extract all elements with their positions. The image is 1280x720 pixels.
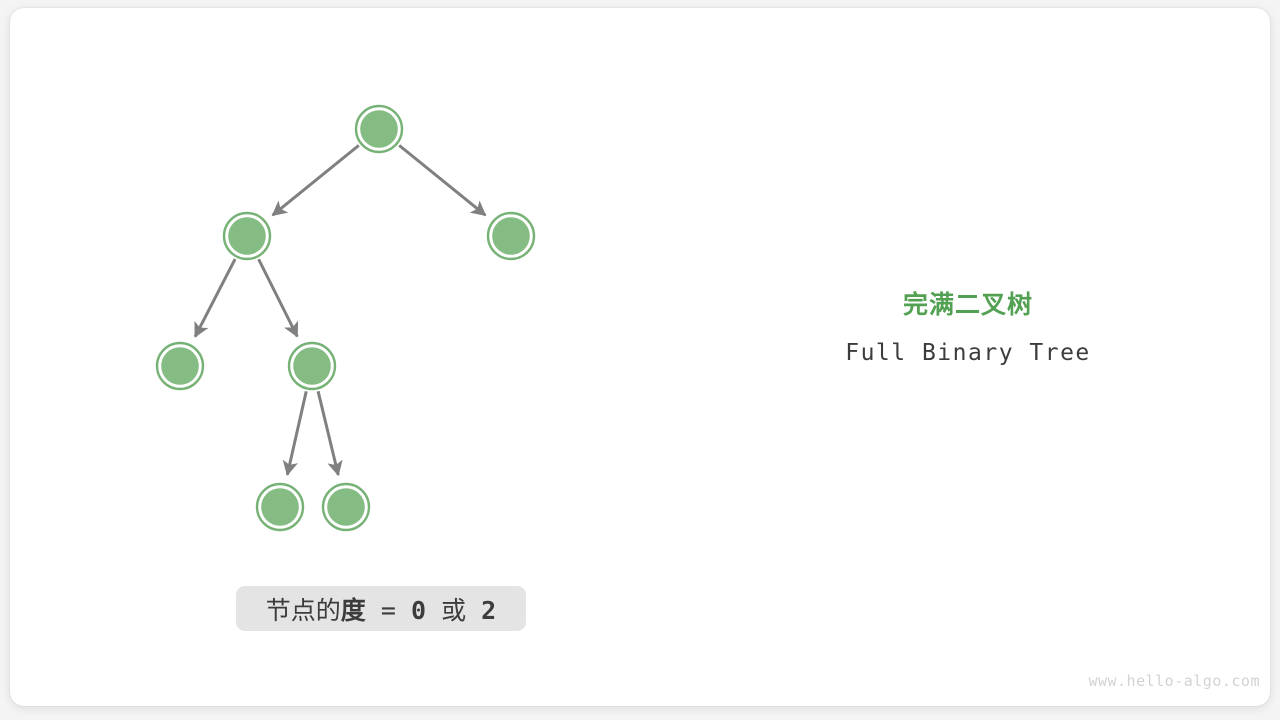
tree-edge [259, 259, 298, 336]
tree-node-fill [228, 217, 266, 255]
tree-node [157, 343, 203, 389]
tree-edge [273, 145, 359, 215]
tree-node-fill [261, 488, 299, 526]
title-english: Full Binary Tree [768, 339, 1168, 367]
tree-node [488, 213, 534, 259]
tree-edge [195, 259, 235, 337]
tree-node [323, 484, 369, 530]
tree-node [224, 213, 270, 259]
title-chinese: 完满二叉树 [768, 290, 1168, 320]
tree-node [289, 343, 335, 389]
tree-node [356, 106, 402, 152]
tree-edge [399, 145, 485, 215]
tree-node-fill [492, 217, 530, 255]
caption-segment: 2 [481, 596, 496, 625]
tree-edge [318, 391, 338, 475]
caption-segment: 节点的 [266, 596, 341, 625]
legend-block: 完满二叉树 Full Binary Tree [768, 290, 1168, 367]
caption-segment: 或 [426, 596, 481, 625]
tree-node-layer [157, 106, 534, 530]
caption-segment: 度 [341, 596, 366, 625]
tree-node-fill [161, 347, 199, 385]
diagram-canvas: 完满二叉树 Full Binary Tree 节点的度 = 0 或 2 www.… [0, 0, 1280, 720]
caption-text: 节点的度 = 0 或 2 [266, 591, 496, 627]
caption-segment: = [366, 596, 411, 625]
caption-segment: 0 [411, 596, 426, 625]
watermark: www.hello-algo.com [1070, 672, 1260, 690]
tree-edge [287, 391, 306, 474]
caption-badge: 节点的度 = 0 或 2 [236, 586, 526, 631]
tree-node-fill [327, 488, 365, 526]
tree-node-fill [360, 110, 398, 148]
tree-node-fill [293, 347, 331, 385]
tree-node [257, 484, 303, 530]
tree-edge-layer [195, 145, 485, 475]
